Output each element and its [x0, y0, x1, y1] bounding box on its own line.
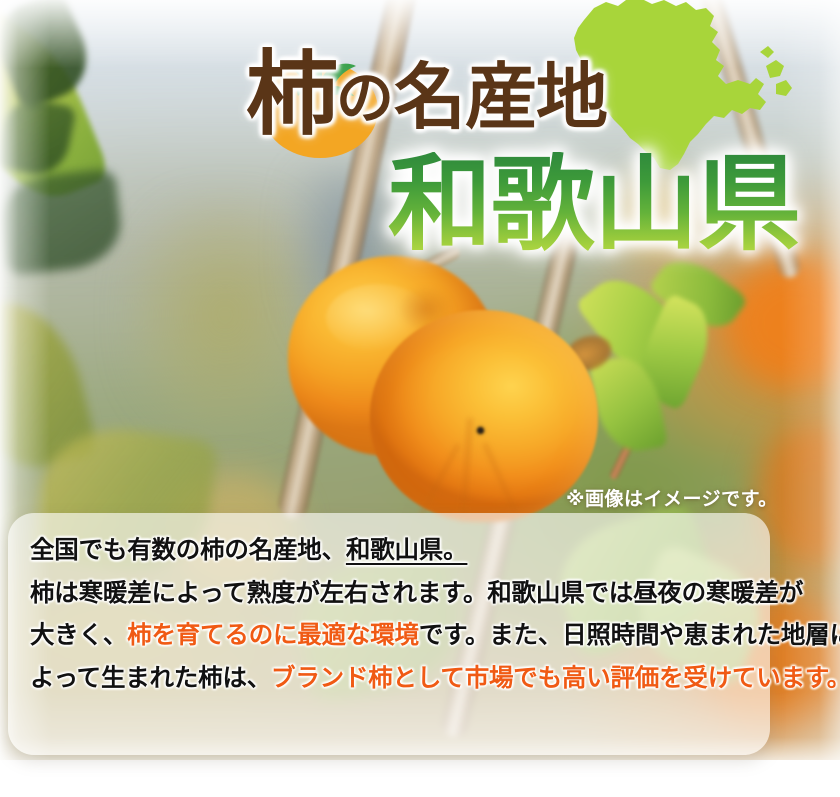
- description-line-2: 柿は寒暖差によって熟度が左右されます。和歌山県では昼夜の寒暖差が: [30, 572, 756, 615]
- description-line-3-part-c: です。また、日照時間や恵まれた地層に: [419, 620, 840, 649]
- description-line-1-underlined: 和歌山県。: [346, 535, 468, 564]
- description-line-3: 大きく、柿を育てるのに最適な環境です。また、日照時間や恵まれた地層に: [30, 614, 756, 657]
- description-line-2-part-a: 柿は寒暖差によって熟度が左右されます。和歌山県では昼夜の寒暖差が: [30, 578, 803, 607]
- description-line-4-part-a: よって生まれた柿は、: [30, 663, 271, 692]
- description-text: 全国でも有数の柿の名産地、和歌山県。 柿は寒暖差によって熟度が左右されます。和歌…: [30, 529, 756, 699]
- description-line-4-highlight: ブランド柿として市場でも高い評価を受けています。: [271, 663, 840, 692]
- description-line-4: よって生まれた柿は、ブランド柿として市場でも高い評価を受けています。: [30, 657, 756, 700]
- persimmon-fruit-front: [370, 310, 598, 522]
- description-panel: 全国でも有数の柿の名産地、和歌山県。 柿は寒暖差によって熟度が左右されます。和歌…: [8, 513, 770, 755]
- description-line-3-highlight: 柿を育てるのに最適な環境: [127, 620, 419, 649]
- bokeh-highlight: [612, 176, 702, 256]
- description-line-1-part-a: 全国でも有数の柿の名産地、: [30, 535, 346, 564]
- description-line-3-part-a: 大きく、: [30, 620, 127, 649]
- description-line-1: 全国でも有数の柿の名産地、和歌山県。: [30, 529, 756, 572]
- product-banner: 柿の名産地 和歌山県 ※画像はイメージです。 全国でも有数の柿の名産地、和歌山県…: [0, 0, 840, 797]
- image-disclaimer: ※画像はイメージです。: [566, 484, 778, 511]
